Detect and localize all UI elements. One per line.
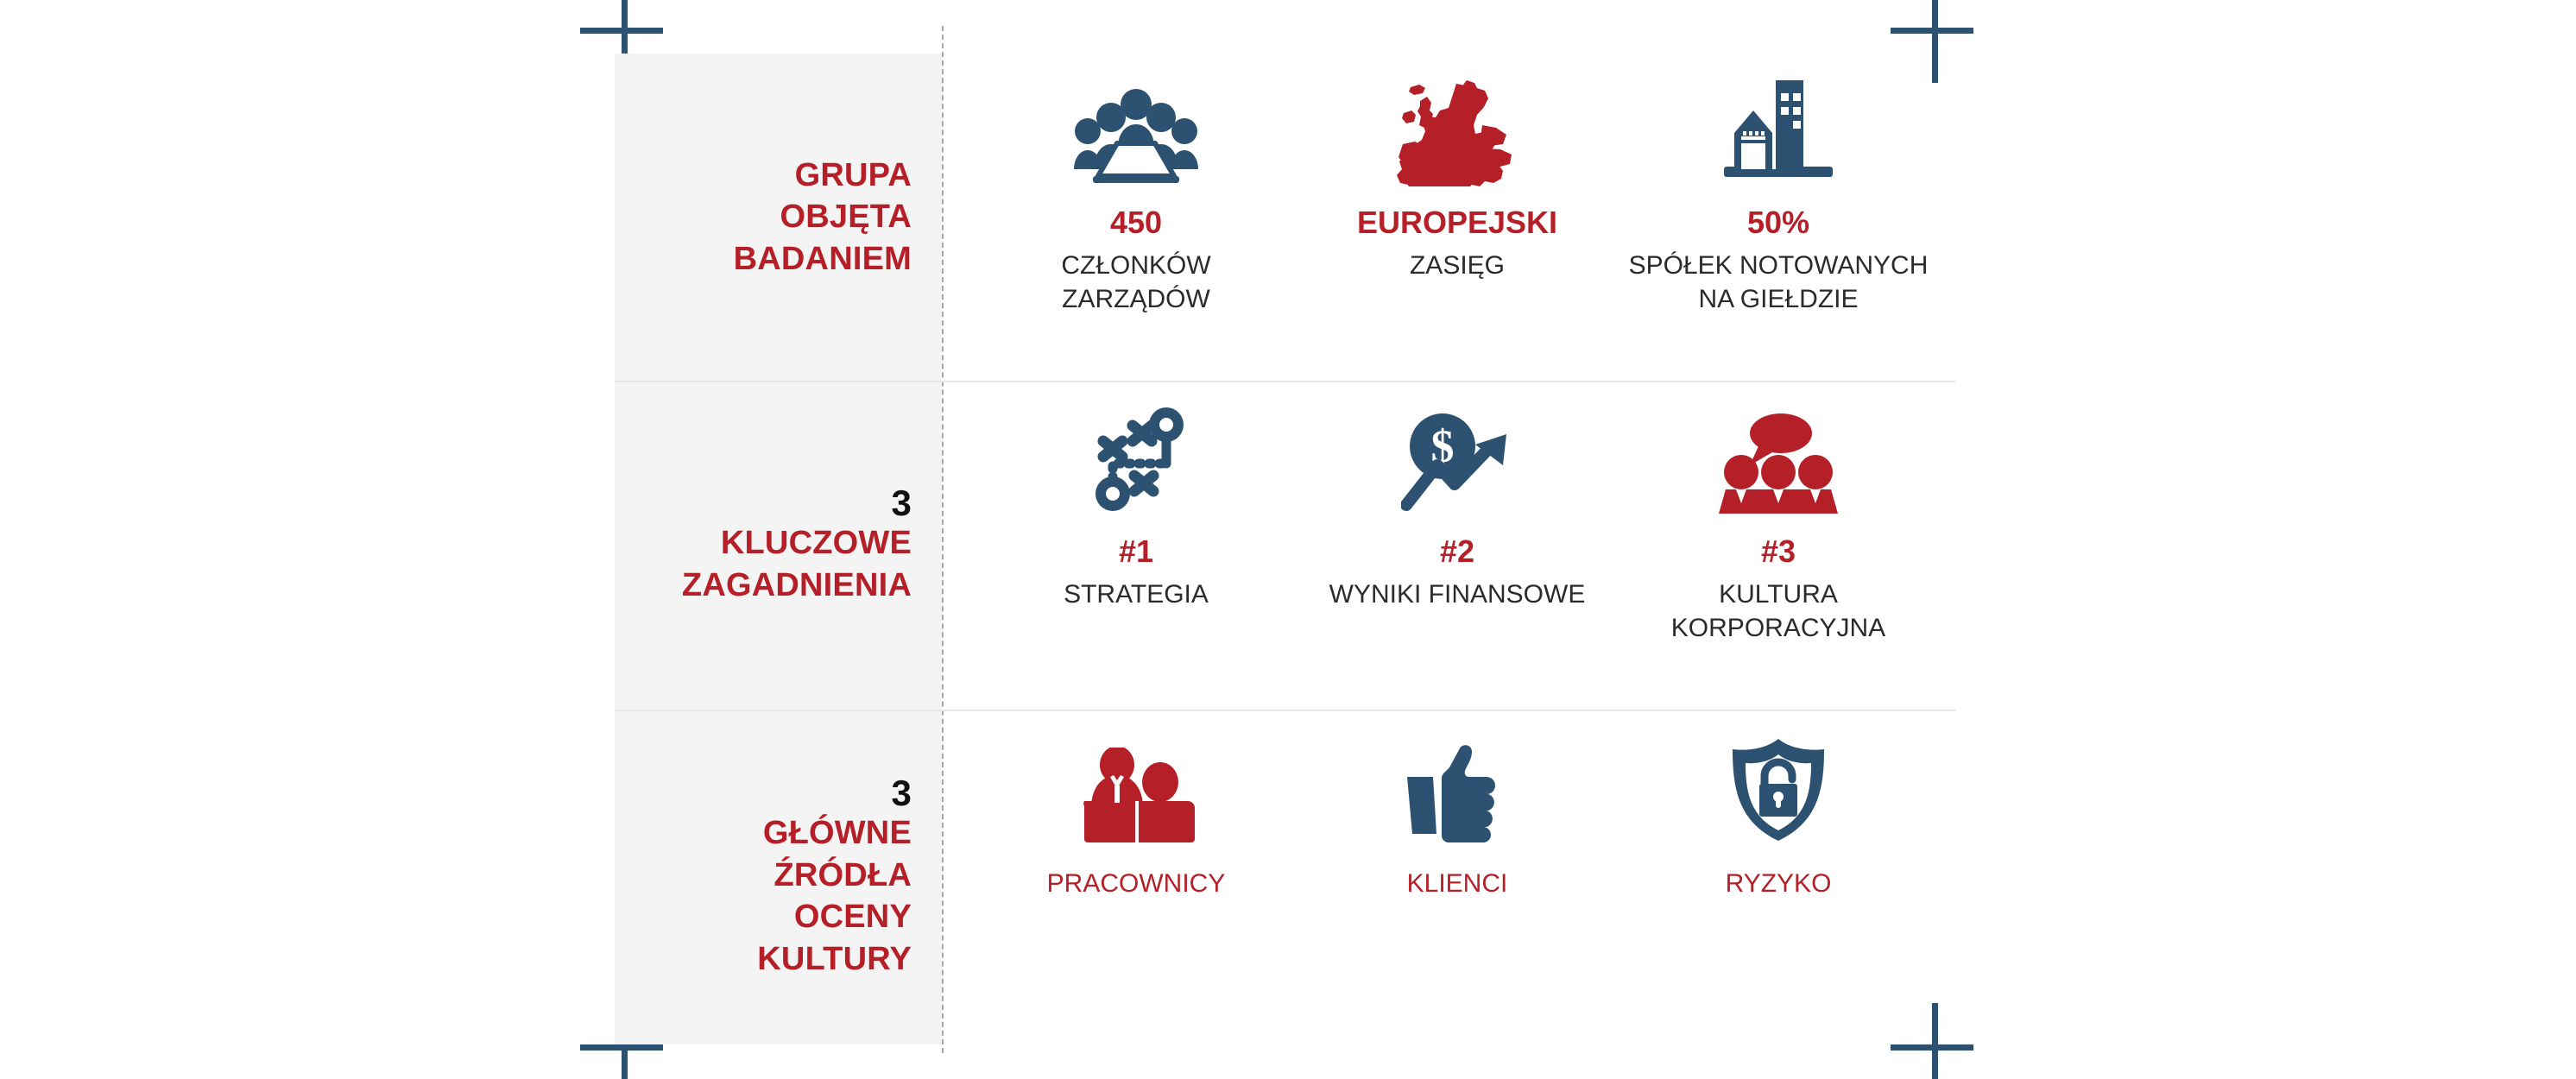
thumbs-up-icon [1402,730,1512,844]
stat-sublabel: STRATEGIA [1064,577,1209,611]
stat-cell-risk: RYZYKO [1618,711,1939,900]
stat-sublabel: RYZYKO [1726,867,1832,900]
buildings-icon [1722,64,1834,186]
stat-sublabel: SPÓŁEK NOTOWANYCH NA GIEŁDZIE [1629,249,1929,316]
stat-cell-corporate-culture: #3 KULTURA KORPORACYJNA [1618,382,1939,645]
row-survey-group: GRUPA OBJĘTA BADANIEM [615,54,1955,381]
stat-headline: EUROPEJSKI [1357,205,1557,240]
stat-sublabel: WYNIKI FINANSOWE [1329,577,1586,611]
stat-sublabel: CZŁONKÓW ZARZĄDÓW [1061,249,1210,316]
stat-sublabel: KULTURA KORPORACYJNA [1671,577,1885,645]
stat-cell-board-members: 450 CZŁONKÓW ZARZĄDÓW [975,54,1297,316]
stat-cell-european-reach: EUROPEJSKI ZASIĘG [1297,54,1618,282]
row-count: 3 [891,775,912,812]
stat-headline: 50% [1747,205,1809,240]
stat-sublabel: PRACOWNICY [1047,867,1226,900]
row-label-key-issues: 3 KLUCZOWE ZAGADNIENIA [615,382,943,710]
stat-headline: #2 [1440,534,1474,569]
stat-sublabel: ZASIĘG [1410,249,1505,282]
stat-cell-clients: KLIENCI [1297,711,1618,900]
row-title: GRUPA OBJĘTA BADANIEM [734,155,912,281]
strategy-playbook-icon [1084,401,1188,515]
row-cells: #1 STRATEGIA $ #2 WYNIKI FINANSOWE [943,382,1955,710]
row-key-issues: 3 KLUCZOWE ZAGADNIENIA [615,382,1955,710]
row-title: KLUCZOWE ZAGADNIENIA [682,522,912,606]
stat-cell-financial-results: $ #2 WYNIKI FINANSOWE [1297,382,1618,611]
europe-map-icon [1392,64,1522,186]
boardroom-meeting-icon [1070,64,1202,186]
row-label-survey-group: GRUPA OBJĘTA BADANIEM [615,54,943,381]
shield-lock-icon [1724,730,1833,844]
stat-cell-strategy: #1 STRATEGIA [975,382,1297,611]
row-cells: 450 CZŁONKÓW ZARZĄDÓW [943,54,1955,381]
stat-headline: 450 [1110,205,1162,240]
stat-headline: #1 [1119,534,1153,569]
stat-sublabel: KLIENCI [1407,867,1508,900]
row-label-culture-sources: 3 GŁÓWNE ŹRÓDŁA OCENY KULTURY [615,711,943,1044]
row-cells: PRACOWNICY KLIENCI [943,711,1955,1044]
row-culture-sources: 3 GŁÓWNE ŹRÓDŁA OCENY KULTURY [615,711,1955,1044]
financial-growth-icon: $ [1401,401,1513,515]
stat-cell-employees: PRACOWNICY [975,711,1297,900]
infographic-canvas: GRUPA OBJĘTA BADANIEM [0,0,2576,1079]
people-speech-bubble-icon [1714,401,1843,515]
stat-cell-listed-companies: 50% SPÓŁEK NOTOWANYCH NA GIEŁDZIE [1618,54,1939,316]
row-title: GŁÓWNE ŹRÓDŁA OCENY KULTURY [757,812,912,981]
employees-desk-icon [1076,730,1196,844]
stat-headline: #3 [1761,534,1796,569]
row-count: 3 [891,485,912,522]
